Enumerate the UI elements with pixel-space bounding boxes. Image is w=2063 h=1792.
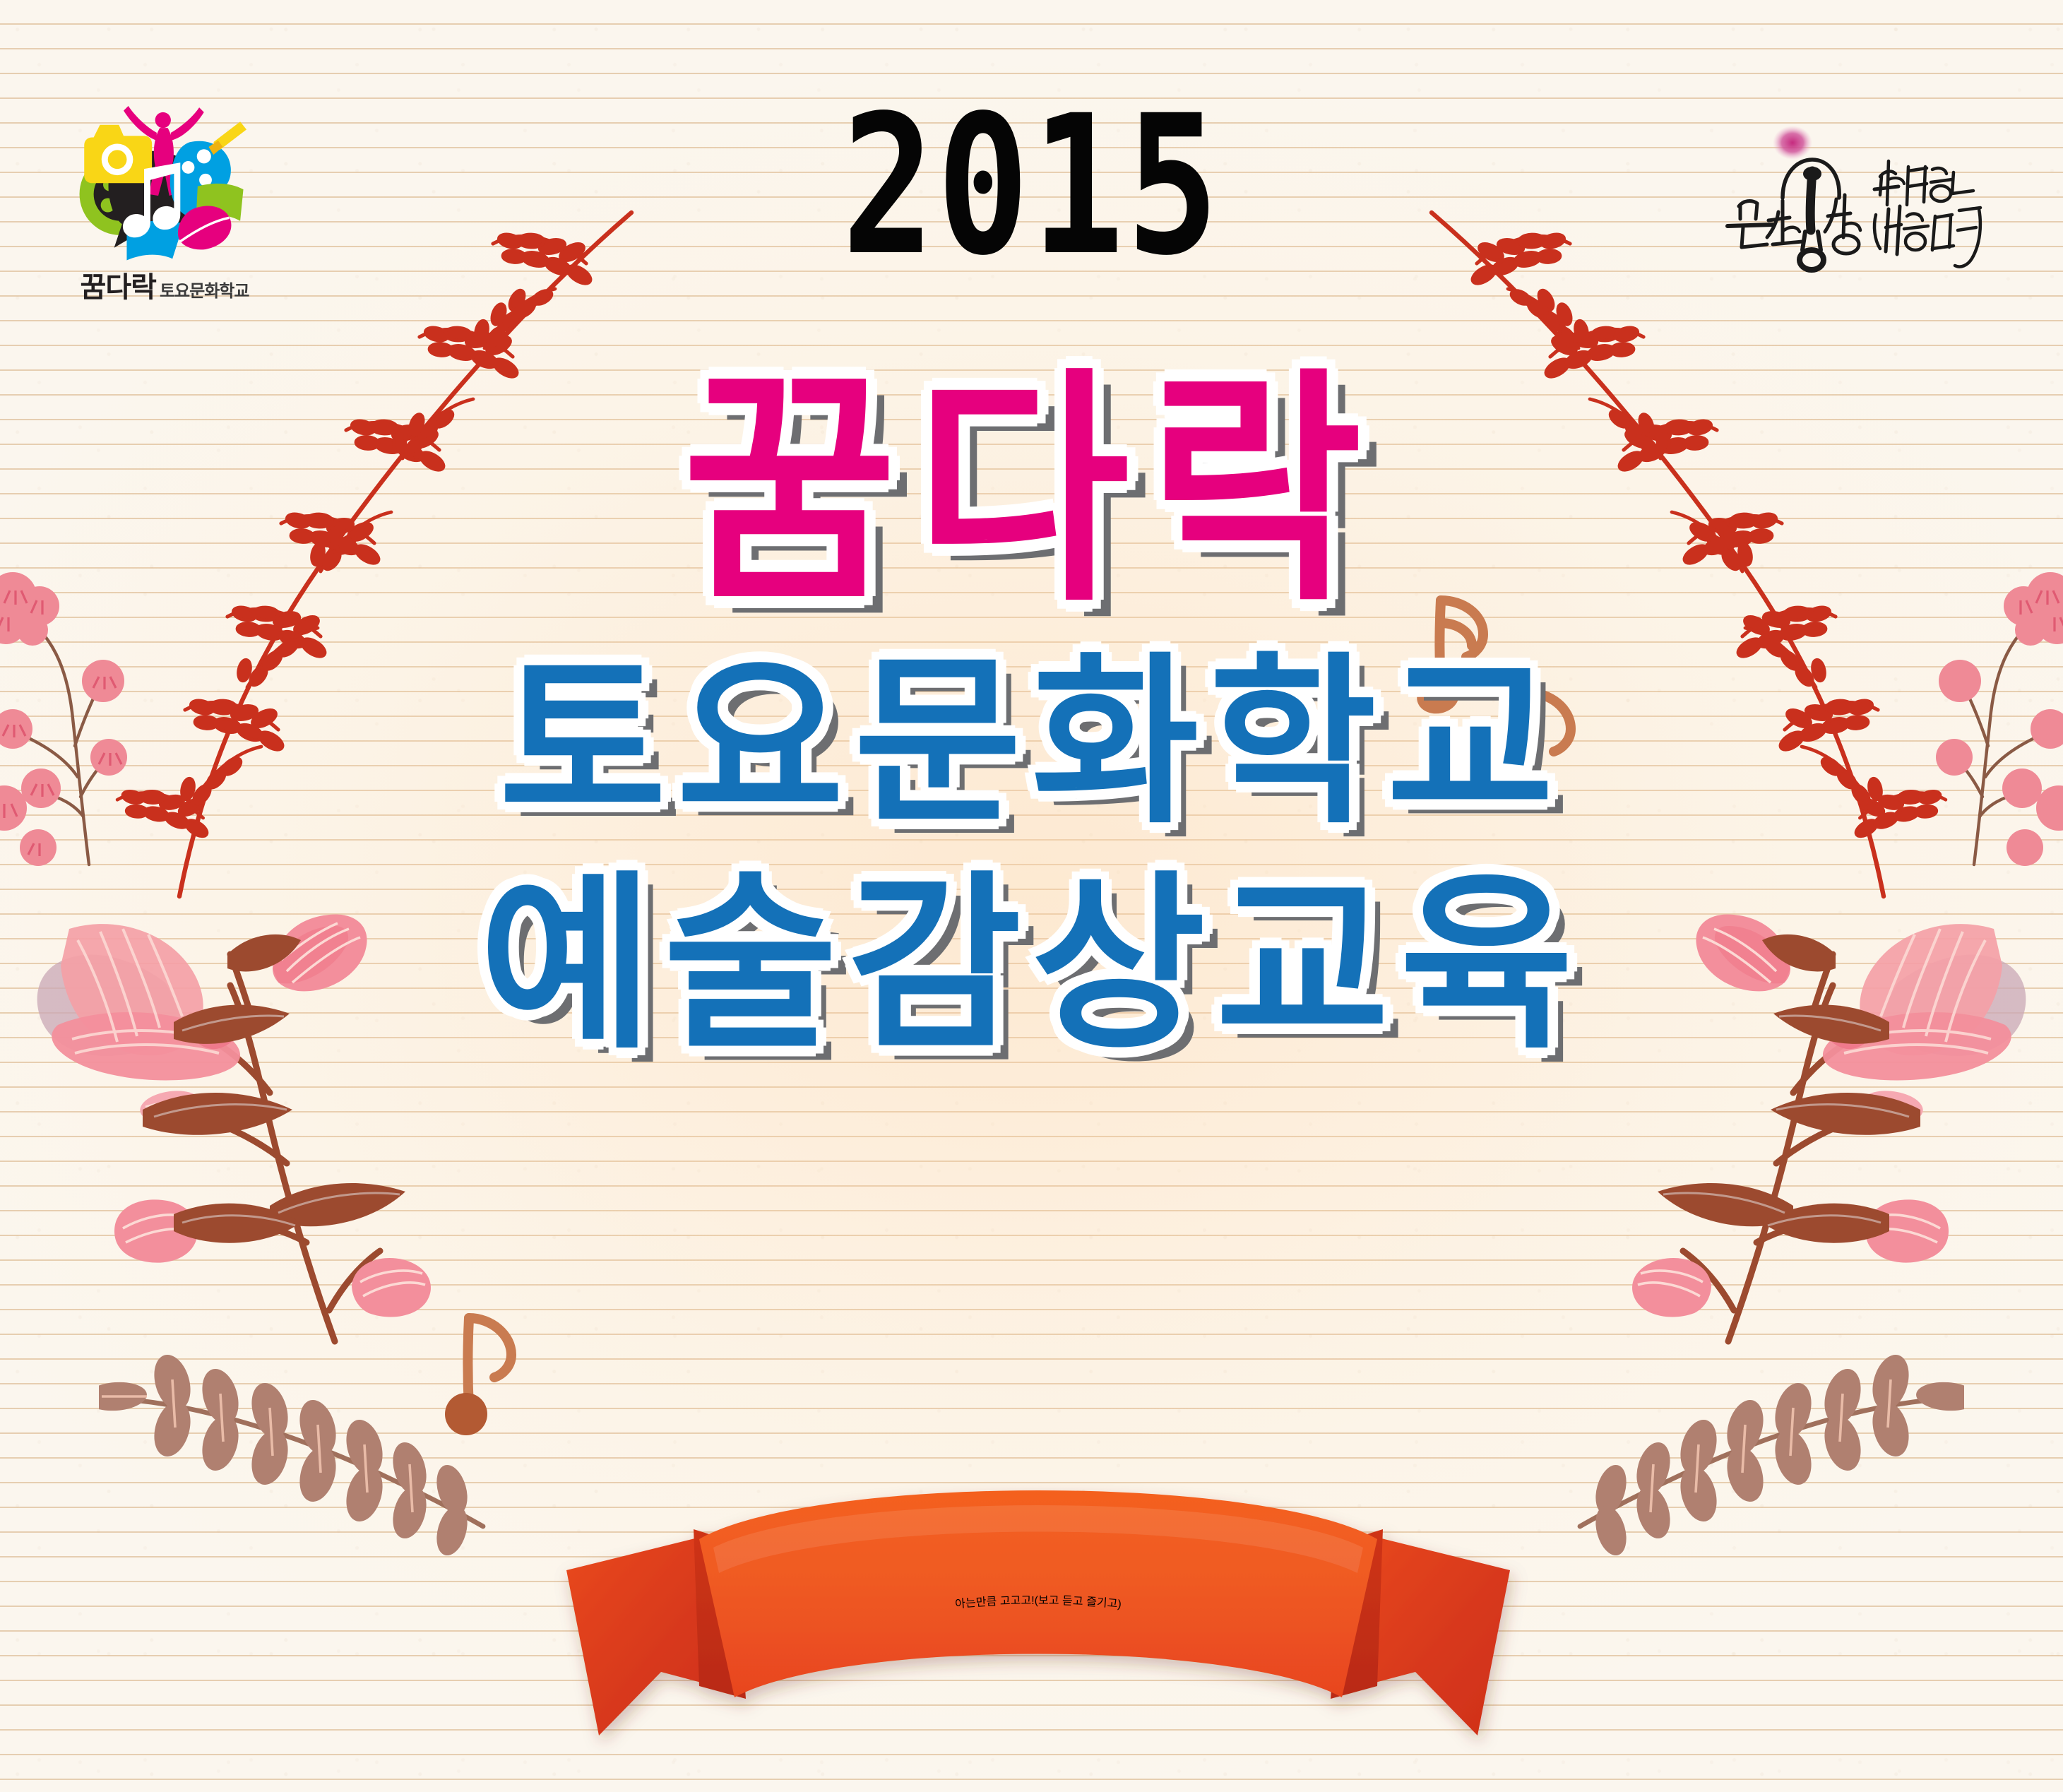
music-note-b: [1497, 678, 1589, 812]
leaf-sprig-right: [1554, 1346, 1964, 1579]
brand-name-main: 꿈다락: [81, 264, 156, 305]
blossom-cluster-left: [0, 565, 191, 869]
blossom-cluster-right: [1872, 565, 2063, 869]
ribbon-shape: [566, 1490, 1510, 1735]
music-note-a: [1413, 586, 1504, 720]
music-note-c: [438, 1307, 530, 1441]
year-headline: 2015: [206, 90, 1857, 283]
slogan-ribbon: 아는만큼 고고고!(보고 듣고 즐기고): [487, 1487, 1589, 1769]
poster-canvas: 꿈다락 토요문화학교: [0, 0, 2063, 1792]
